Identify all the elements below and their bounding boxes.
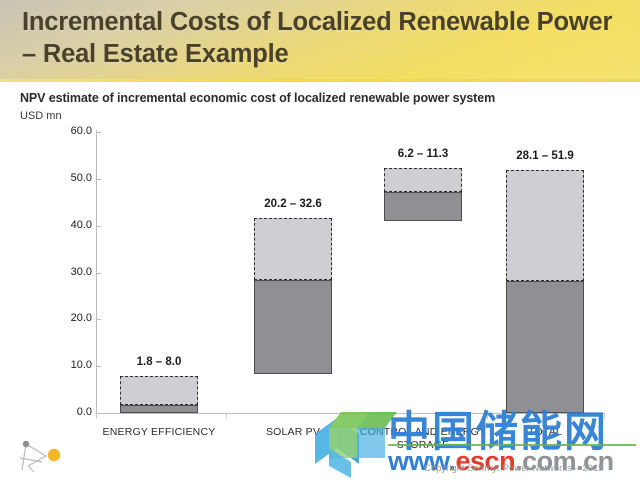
copyright-text: Copyright Sohmyr Power Networks – 2015 [424, 463, 604, 474]
y-axis-tick-label: 0.0 [50, 406, 92, 418]
bar-segment-high [506, 170, 584, 281]
bar-4[interactable] [506, 170, 584, 413]
bar-value-label: 1.8 – 8.0 [79, 356, 239, 368]
bar-segment-high [120, 376, 198, 405]
y-axis-tick-label: 30.0 [50, 266, 92, 278]
bar-segment-low [506, 281, 584, 413]
compass-logo-icon [12, 436, 82, 476]
bar-segment-high [254, 218, 332, 281]
bar-2[interactable] [254, 218, 332, 374]
y-axis-tick-label: 60.0 [50, 125, 92, 137]
y-axis-tick-mark [96, 132, 101, 133]
y-axis-tick-mark [96, 179, 101, 180]
bar-value-label: 28.1 – 51.9 [465, 150, 625, 162]
y-axis-tick-label: 40.0 [50, 219, 92, 231]
x-axis-tick-mark [226, 413, 227, 419]
bar-3[interactable] [384, 168, 462, 221]
bar-value-label: 20.2 – 32.6 [213, 198, 373, 210]
y-axis-tick-label: 50.0 [50, 172, 92, 184]
y-axis-tick-mark [96, 319, 101, 320]
x-axis-tick-mark [96, 413, 97, 419]
bar-1[interactable] [120, 376, 198, 413]
bar-segment-low [120, 405, 198, 413]
slide-root: Incremental Costs of Localized Renewable… [0, 0, 640, 480]
bar-segment-low [254, 280, 332, 374]
y-axis-tick-label: 20.0 [50, 312, 92, 324]
y-axis-tick-mark [96, 226, 101, 227]
bar-segment-high [384, 168, 462, 192]
y-axis-tick-mark [96, 273, 101, 274]
bar-segment-low [384, 192, 462, 221]
